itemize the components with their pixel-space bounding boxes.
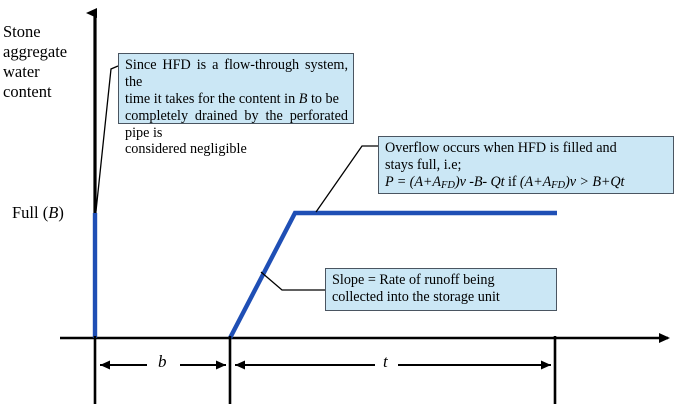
callout-overflow-line-1: Overflow occurs when HFD is filled and [385,140,668,157]
callout-slope-line-2: collected into the storage unit [332,289,551,306]
formula-if: if [505,174,520,190]
dimension-label-b: b [158,352,167,372]
callout-overflow-formula: P = (A+AFD)v -B- Qt if (A+AFD)v > B+Qt [385,174,668,192]
callout-drain-line-4: considered negligible [125,141,348,158]
formula-qt-1: Qt [491,174,505,190]
formula-plus-3: + [601,174,610,190]
callout-slope-line-1: Slope = Rate of runoff being [332,272,551,289]
callout-drain-line-2c: to be [307,91,339,107]
formula-plus-2: + [533,174,542,190]
full-level-suffix: ) [58,203,64,222]
formula-minus-b: -B- [466,174,491,190]
formula-subscript-fd-2: FD [551,180,565,191]
callout-drain-time-negligible: Since HFD is a flow-through system, the … [118,53,354,124]
leader-line-drain [96,66,118,211]
callout-overflow-condition: Overflow occurs when HFD is filled and s… [378,136,674,194]
dimension-label-t: t [383,352,388,372]
formula-plus-1: + [423,174,432,190]
formula-subscript-fd-1: FD [441,180,455,191]
callout-drain-line-2a: time it takes for the content in [125,91,299,107]
callout-drain-line-2: time it takes for the content in B to be [125,91,348,108]
callout-slope-definition: Slope = Rate of runoff being collected i… [325,268,557,311]
full-level-label: Full (B) [12,203,64,223]
formula-equals: = ( [393,174,414,190]
formula-a2: A [432,174,441,190]
callout-drain-line-1: Since HFD is a flow-through system, the [125,57,348,91]
leader-line-slope [261,272,325,290]
formula-a4: A [543,174,552,190]
formula-a3: A [525,174,534,190]
formula-b: B [592,174,601,190]
y-axis-title: Stone aggregate water content [3,22,81,103]
formula-a1: A [414,174,423,190]
full-level-variable: B [48,203,58,222]
formula-greater-than: > [576,174,592,190]
formula-qt-2: Qt [610,174,624,190]
callout-drain-line-3: completely drained by the perforated pip… [125,108,348,142]
full-level-prefix: Full ( [12,203,48,222]
diagram-canvas: Stone aggregate water content Full (B) S… [0,0,682,411]
callout-overflow-line-2: stays full, i.e; [385,157,668,174]
